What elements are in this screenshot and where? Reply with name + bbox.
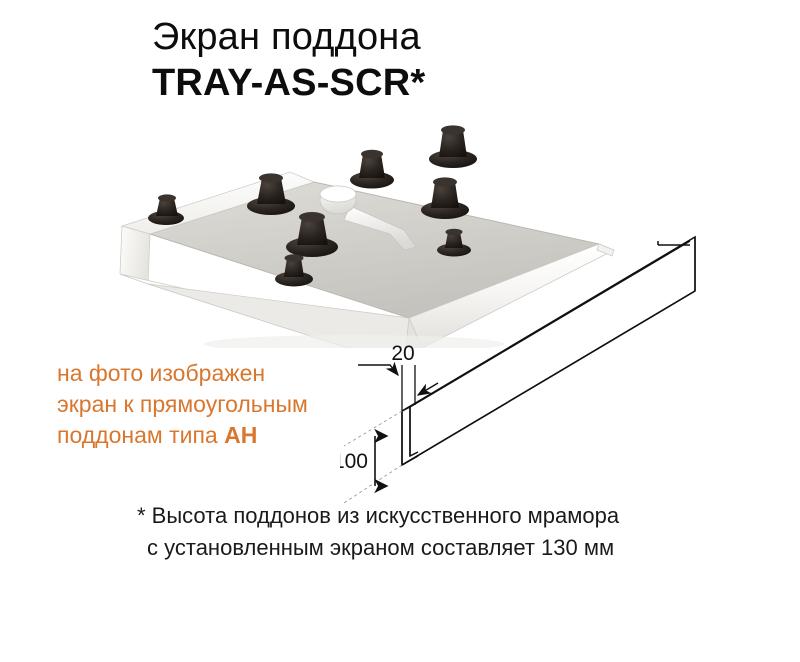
profile-bottom-edge bbox=[402, 291, 695, 465]
tray-foot bbox=[429, 125, 477, 168]
tray-type-code: AH bbox=[224, 422, 257, 448]
page-title: Экран поддона TRAY-AS-SCR* bbox=[152, 14, 572, 106]
product-info-page: Экран поддона TRAY-AS-SCR* bbox=[0, 0, 800, 662]
profile-front-face bbox=[402, 237, 695, 465]
screen-profile-drawing: 20 100 bbox=[340, 215, 800, 505]
footnote: * Высота поддонов из искусственного мрам… bbox=[137, 500, 737, 564]
caption-line-1: на фото изображен bbox=[57, 358, 377, 389]
tray-foot bbox=[350, 150, 394, 189]
photo-caption: на фото изображен экран к прямоугольным … bbox=[57, 358, 377, 451]
leader-arrow-20-left bbox=[358, 365, 398, 375]
product-code: TRAY-AS-SCR* bbox=[152, 60, 572, 106]
tray-foot bbox=[421, 177, 469, 219]
profile-top-inner-edge bbox=[410, 241, 690, 407]
profile-left-foot bbox=[402, 456, 418, 465]
ext-line-100-top bbox=[344, 411, 402, 446]
leader-arrow-20-right bbox=[418, 383, 438, 395]
caption-line-3: поддонам типа AH bbox=[57, 420, 377, 451]
dimension-label-20: 20 bbox=[391, 342, 414, 365]
product-title-ru: Экран поддона bbox=[152, 14, 572, 60]
caption-line-3-text: поддонам типа bbox=[57, 422, 224, 448]
dimension-20: 20 bbox=[358, 342, 438, 411]
caption-line-2: экран к прямоугольным bbox=[57, 389, 377, 420]
screen-profile-isometric: 20 100 bbox=[340, 215, 800, 505]
footnote-line-1: * Высота поддонов из искусственного мрам… bbox=[137, 500, 737, 532]
dimension-label-100: 100 bbox=[340, 450, 368, 473]
footnote-line-2: с установленным экраном составляет 130 м… bbox=[137, 532, 737, 564]
dimension-100: 100 bbox=[340, 411, 402, 503]
